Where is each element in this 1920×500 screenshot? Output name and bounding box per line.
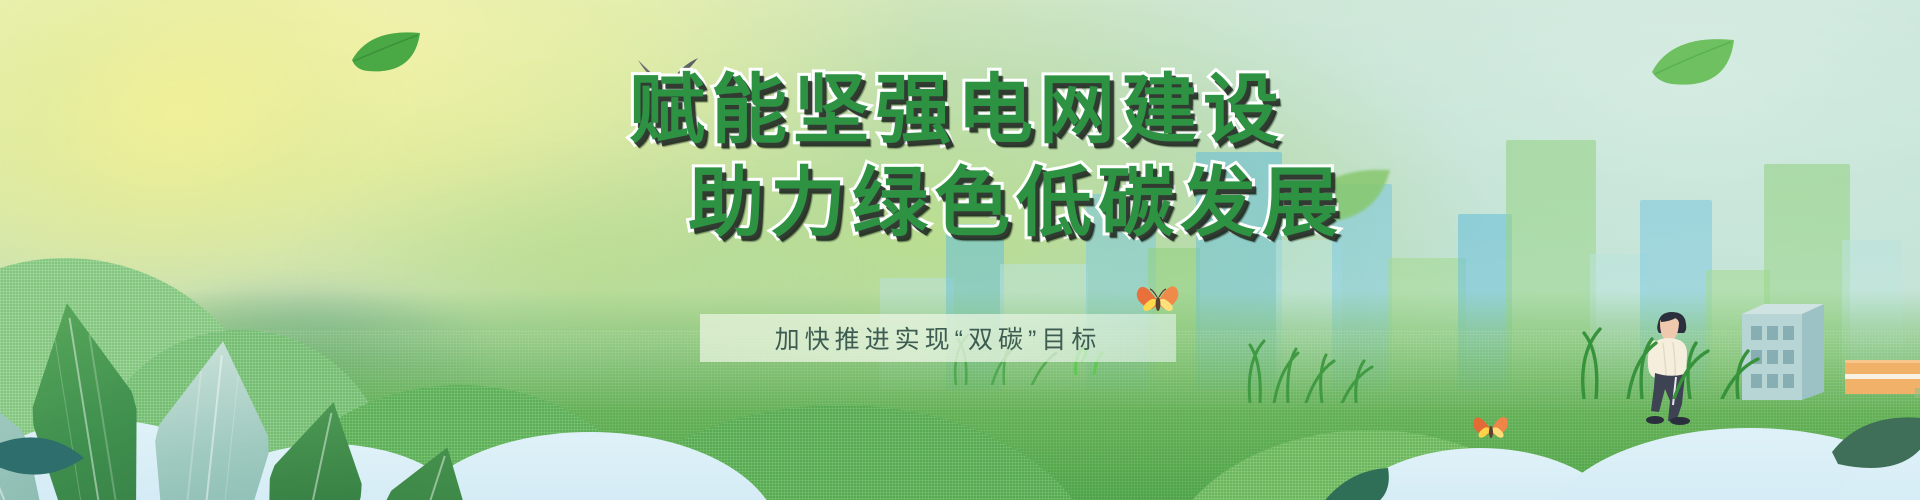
grass-tuft bbox=[1570, 295, 1770, 404]
leaf-dark-right bbox=[1826, 412, 1920, 489]
subtitle-text: 加快推进实现“双碳”目标 bbox=[775, 320, 1102, 356]
leaf-blade-teal bbox=[140, 335, 281, 500]
leaf-with-stem bbox=[1318, 452, 1408, 500]
leaf-icon bbox=[1650, 36, 1738, 95]
swallow-bird-icon bbox=[628, 58, 704, 106]
leaf-icon-blurred bbox=[1290, 168, 1394, 229]
subtitle-bar: 加快推进实现“双碳”目标 bbox=[700, 314, 1176, 362]
leaf-teal-tip bbox=[0, 428, 102, 500]
butterfly-icon bbox=[1472, 412, 1512, 451]
eco-power-grid-banner: 赋能坚强电网建设 助力绿色低碳发展 加快推进实现“双碳”目标 bbox=[0, 0, 1920, 500]
leaf-icon bbox=[350, 30, 424, 79]
